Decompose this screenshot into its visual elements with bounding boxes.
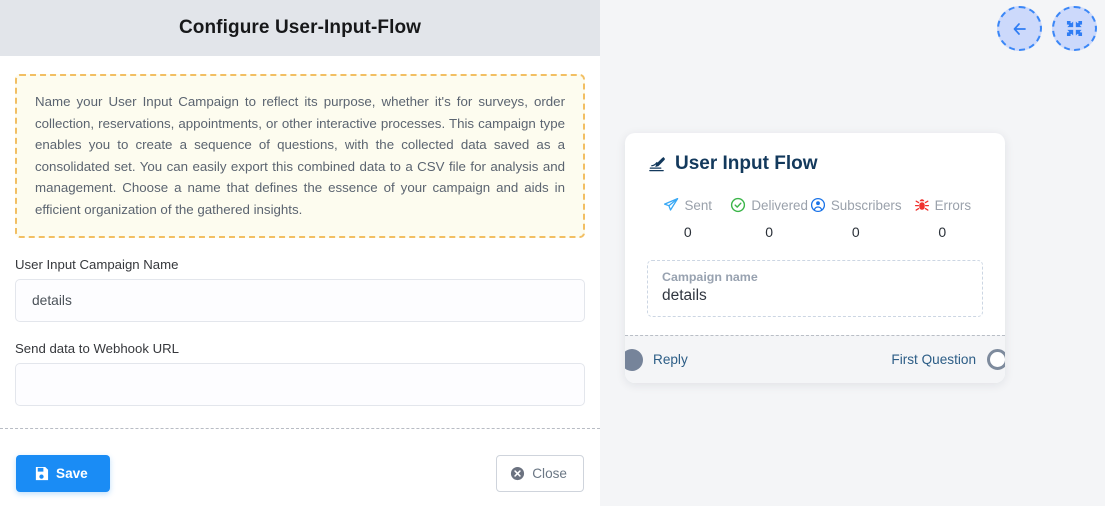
flow-canvas[interactable]: User Input Flow Sent: [600, 0, 1105, 506]
stat-delivered: Delivered 0: [728, 197, 809, 240]
info-callout: Name your User Input Campaign to reflect…: [15, 74, 585, 238]
fit-screen-button[interactable]: [1052, 6, 1097, 51]
save-floppy-icon: [34, 466, 49, 481]
flow-node-card[interactable]: User Input Flow Sent: [625, 133, 1005, 383]
close-button[interactable]: Close: [496, 455, 584, 492]
stat-errors-head: Errors: [914, 197, 971, 213]
page-title: Configure User-Input-Flow: [179, 17, 421, 39]
stat-subscribers-value: 0: [810, 224, 902, 240]
stat-subscribers-head: Subscribers: [810, 197, 902, 213]
stat-delivered-head: Delivered: [730, 197, 808, 213]
configure-panel: Configure User-Input-Flow Name your User…: [0, 0, 600, 506]
card-main: User Input Flow Sent: [625, 133, 1005, 335]
stat-sent-value: 0: [647, 224, 728, 240]
reply-connector-group[interactable]: Reply: [635, 349, 688, 371]
footer-divider: [0, 428, 600, 429]
card-title-text: User Input Flow: [675, 153, 818, 175]
canvas-controls: [997, 6, 1097, 51]
panel-header: Configure User-Input-Flow: [0, 0, 600, 56]
stat-sent: Sent 0: [647, 197, 728, 240]
back-button[interactable]: [997, 6, 1042, 51]
webhook-url-label: Send data to Webhook URL: [15, 341, 585, 356]
stat-delivered-label: Delivered: [751, 198, 808, 213]
campaign-name-readout[interactable]: Campaign name details: [647, 260, 983, 317]
stat-errors: Errors 0: [902, 197, 983, 240]
first-question-connector-dot[interactable]: [987, 349, 1005, 370]
field-group-webhook-url: Send data to Webhook URL: [15, 341, 585, 406]
stat-subscribers: Subscribers 0: [810, 197, 902, 240]
campaign-name-label: User Input Campaign Name: [15, 257, 585, 272]
stat-errors-value: 0: [902, 224, 983, 240]
campaign-readout-label: Campaign name: [662, 270, 968, 284]
close-button-label: Close: [532, 466, 567, 481]
stat-errors-label: Errors: [935, 198, 971, 213]
card-title-row: User Input Flow: [647, 153, 983, 175]
card-stats-row: Sent 0 Delivered: [647, 197, 983, 240]
app-screen: Configure User-Input-Flow Name your User…: [0, 0, 1105, 506]
reply-label: Reply: [653, 352, 688, 367]
webhook-url-input[interactable]: [15, 363, 585, 406]
first-question-connector-group[interactable]: First Question: [891, 349, 991, 370]
stat-sent-head: Sent: [663, 197, 712, 213]
card-footer: Reply First Question: [625, 335, 1005, 383]
save-button[interactable]: Save: [16, 455, 110, 492]
paper-plane-icon: [663, 197, 679, 213]
compress-arrows-icon: [1066, 20, 1083, 37]
stat-subscribers-label: Subscribers: [831, 198, 902, 213]
stat-delivered-value: 0: [728, 224, 809, 240]
campaign-readout-value: details: [662, 287, 968, 305]
close-circle-icon: [510, 466, 525, 481]
stat-sent-label: Sent: [684, 198, 712, 213]
arrow-left-icon: [1011, 20, 1029, 38]
campaign-name-input[interactable]: [15, 279, 585, 322]
signature-icon: [647, 155, 666, 174]
save-button-label: Save: [56, 466, 88, 481]
panel-body: Name your User Input Campaign to reflect…: [0, 56, 600, 406]
reply-connector-dot[interactable]: [625, 349, 643, 371]
bug-icon: [914, 197, 930, 213]
user-circle-icon: [810, 197, 826, 213]
field-group-campaign-name: User Input Campaign Name: [15, 257, 585, 322]
panel-footer-actions: Save Close: [0, 443, 600, 503]
first-question-label: First Question: [891, 352, 976, 367]
check-circle-icon: [730, 197, 746, 213]
